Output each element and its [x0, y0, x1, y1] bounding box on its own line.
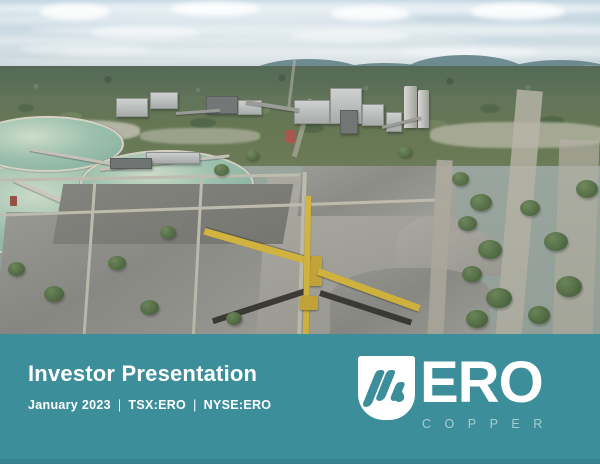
cloud-puff [290, 30, 410, 42]
listing-tsx: TSX:ERO [128, 398, 186, 412]
stacker-hub [300, 296, 318, 310]
tree [214, 164, 229, 176]
tree [140, 300, 159, 315]
silo [418, 90, 429, 128]
band-bottom-strip [0, 459, 600, 464]
tree [462, 266, 482, 282]
scrub-bush [18, 104, 34, 112]
cloud-puff [470, 3, 565, 20]
plant-building [146, 152, 200, 164]
storage-tank [286, 130, 295, 143]
tree [8, 262, 25, 276]
scrub-bush [190, 118, 216, 128]
tree [470, 194, 492, 211]
plant-building [110, 158, 152, 169]
tree [556, 276, 582, 297]
page-title: Investor Presentation [28, 362, 271, 386]
logo-tagline: COPPER [422, 418, 556, 431]
plant-building [294, 100, 330, 124]
cloud-puff [90, 26, 200, 39]
logo-wordmark: ERO [420, 354, 543, 412]
tree [44, 286, 64, 302]
tree [528, 306, 550, 324]
storage-tank [10, 196, 17, 206]
tree [108, 256, 126, 270]
presentation-date: January 2023 [28, 398, 111, 412]
ground-patch [140, 128, 260, 144]
tree [246, 150, 259, 160]
tree [458, 216, 477, 231]
tree [576, 180, 598, 198]
far-treeline [0, 66, 600, 100]
ero-flame-shield-icon [358, 356, 415, 420]
meta-separator: | [111, 398, 129, 412]
tree [520, 200, 540, 216]
tree [398, 146, 412, 157]
ero-copper-logo: ERO COPPER [358, 356, 573, 444]
scrub-bush [480, 104, 500, 113]
presentation-meta: January 2023|TSX:ERO|NYSE:ERO [28, 398, 271, 412]
tree [466, 310, 488, 328]
cover-photo [0, 0, 600, 334]
cloud-puff [330, 6, 410, 21]
listing-nyse: NYSE:ERO [204, 398, 272, 412]
title-block: Investor Presentation January 2023|TSX:E… [28, 362, 271, 412]
cloud-puff [170, 2, 260, 16]
tree [160, 226, 176, 239]
plant-building [340, 110, 358, 134]
tree [544, 232, 568, 251]
cloud-puff [40, 4, 110, 20]
plant-building [116, 98, 148, 117]
tree [478, 240, 502, 259]
tree [452, 172, 469, 186]
tree [226, 312, 242, 325]
tailings-pad [297, 166, 452, 216]
title-band: Investor Presentation January 2023|TSX:E… [0, 334, 600, 464]
plant-building [362, 104, 384, 126]
plant-building [150, 92, 178, 109]
meta-separator: | [186, 398, 204, 412]
investor-presentation-cover-slide: Investor Presentation January 2023|TSX:E… [0, 0, 600, 464]
tree [486, 288, 512, 308]
